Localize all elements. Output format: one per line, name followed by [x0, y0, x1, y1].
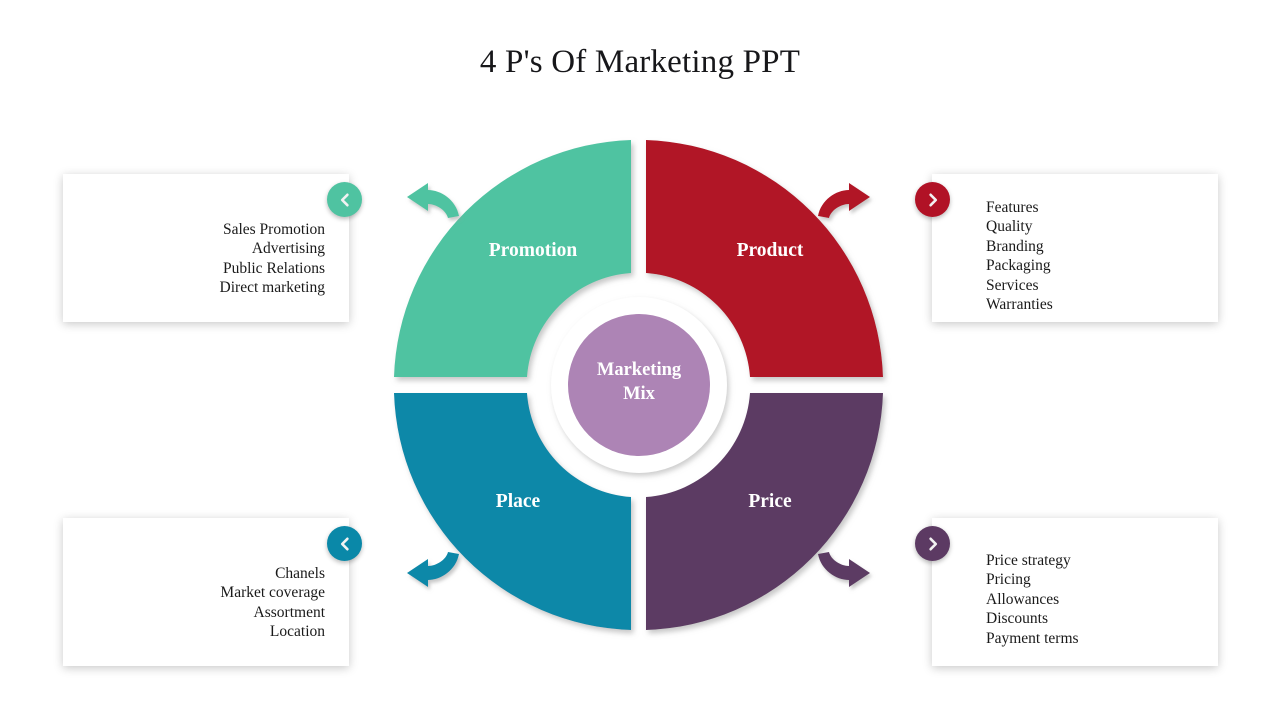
list-item: Public Relations: [87, 259, 325, 278]
center-label-line1: Marketing: [540, 358, 738, 382]
chevron-left-icon: [337, 536, 353, 552]
list-item: Warranties: [986, 295, 1194, 314]
list-item: Advertising: [87, 239, 325, 258]
list-item: Chanels: [87, 564, 325, 583]
arrow-promotion-icon: [407, 183, 459, 218]
list-item: Quality: [986, 217, 1194, 236]
chevron-left-icon: [337, 192, 353, 208]
list-item: Sales Promotion: [87, 220, 325, 239]
badge-promotion[interactable]: [327, 182, 362, 217]
list-item: Allowances: [986, 590, 1194, 609]
list-item: Features: [986, 198, 1194, 217]
arrow-product-icon: [818, 183, 870, 218]
list-item: Discounts: [986, 609, 1194, 628]
arrow-place-icon: [407, 552, 459, 587]
list-item: Branding: [986, 237, 1194, 256]
card-place-list: Chanels Market coverage Assortment Locat…: [87, 534, 325, 642]
list-item: Services: [986, 276, 1194, 295]
card-promotion-list: Sales Promotion Advertising Public Relat…: [87, 190, 325, 298]
segment-label-place: Place: [418, 491, 618, 513]
list-item: Packaging: [986, 256, 1194, 275]
chevron-right-icon: [925, 536, 941, 552]
list-item: Assortment: [87, 603, 325, 622]
card-place[interactable]: Chanels Market coverage Assortment Locat…: [63, 518, 349, 666]
list-item: Price strategy: [986, 551, 1194, 570]
list-item: Payment terms: [986, 629, 1194, 648]
card-price-list: Price strategy Pricing Allowances Discou…: [956, 534, 1194, 648]
center-label: Marketing Mix: [540, 358, 738, 406]
segment-label-price: Price: [670, 491, 870, 513]
list-item: Location: [87, 622, 325, 641]
card-product[interactable]: Features Quality Branding Packaging Serv…: [932, 174, 1218, 322]
slide-canvas: 4 P's Of Marketing PPT: [0, 0, 1280, 720]
card-price[interactable]: Price strategy Pricing Allowances Discou…: [932, 518, 1218, 666]
center-label-line2: Mix: [540, 382, 738, 406]
list-item: Market coverage: [87, 583, 325, 602]
card-promotion[interactable]: Sales Promotion Advertising Public Relat…: [63, 174, 349, 322]
badge-product[interactable]: [915, 182, 950, 217]
segment-label-product: Product: [670, 240, 870, 262]
list-item: Direct marketing: [87, 278, 325, 297]
page-title: 4 P's Of Marketing PPT: [0, 44, 1280, 81]
list-item: Pricing: [986, 570, 1194, 589]
segment-label-promotion: Promotion: [433, 240, 633, 262]
badge-place[interactable]: [327, 526, 362, 561]
card-product-list: Features Quality Branding Packaging Serv…: [956, 190, 1194, 314]
badge-price[interactable]: [915, 526, 950, 561]
chevron-right-icon: [925, 192, 941, 208]
arrow-price-icon: [818, 552, 870, 587]
